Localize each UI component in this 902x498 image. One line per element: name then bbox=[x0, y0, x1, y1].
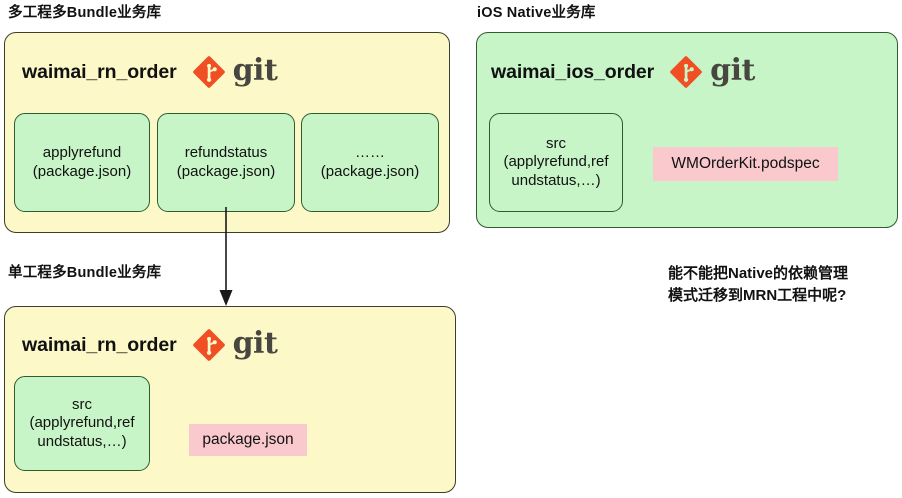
module-name: refundstatus bbox=[185, 144, 268, 161]
repo-header-single-project: waimai_rn_order git bbox=[22, 327, 277, 363]
repo-name-label: waimai_rn_order bbox=[22, 334, 177, 357]
module-src-line1: src bbox=[546, 135, 566, 152]
repo-header-ios-native: waimai_ios_order git bbox=[491, 54, 755, 90]
git-diamond-icon bbox=[191, 327, 227, 363]
git-wordmark: git bbox=[233, 56, 278, 86]
git-wordmark: git bbox=[233, 329, 278, 359]
git-diamond-icon bbox=[191, 54, 227, 90]
caption-single-project: 单工程多Bundle业务库 bbox=[8, 266, 161, 281]
git-logo: git bbox=[191, 327, 278, 363]
module-src-line1: src bbox=[72, 396, 92, 413]
module-name: …… bbox=[355, 144, 385, 161]
module-name: applyrefund bbox=[43, 144, 121, 161]
module-applyrefund: applyrefund (package.json) bbox=[14, 113, 150, 212]
tag-podspec: WMOrderKit.podspec bbox=[653, 147, 838, 181]
repo-name-label: waimai_rn_order bbox=[22, 61, 177, 84]
git-diamond-icon bbox=[668, 54, 704, 90]
diagram-canvas: 多工程多Bundle业务库 iOS Native业务库 单工程多Bundle业务… bbox=[0, 0, 902, 498]
module-src-rn: src (applyrefund,ref undstatus,…) bbox=[14, 376, 150, 471]
module-src-line2: (applyrefund,ref bbox=[29, 414, 134, 431]
module-manifest: (package.json) bbox=[321, 163, 419, 180]
module-manifest: (package.json) bbox=[177, 163, 275, 180]
module-src-ios: src (applyrefund,ref undstatus,…) bbox=[489, 113, 623, 212]
caption-ios-native: iOS Native业务库 bbox=[477, 6, 596, 21]
git-logo: git bbox=[668, 54, 755, 90]
tag-package-json: package.json bbox=[189, 424, 307, 456]
module-refundstatus: refundstatus (package.json) bbox=[157, 113, 295, 212]
module-src-line2: (applyrefund,ref bbox=[503, 153, 608, 170]
caption-multi-project: 多工程多Bundle业务库 bbox=[8, 6, 161, 21]
module-src-line3: undstatus,…) bbox=[511, 172, 600, 189]
repo-name-label: waimai_ios_order bbox=[491, 61, 654, 84]
module-manifest: (package.json) bbox=[33, 163, 131, 180]
module-src-line3: undstatus,…) bbox=[37, 433, 126, 450]
repo-header-multi-project: waimai_rn_order git bbox=[22, 54, 277, 90]
question-note: 能不能把Native的依赖管理 模式迁移到MRN工程中呢? bbox=[668, 263, 898, 307]
git-wordmark: git bbox=[710, 56, 755, 86]
module-ellipsis: …… (package.json) bbox=[301, 113, 439, 212]
git-logo: git bbox=[191, 54, 278, 90]
